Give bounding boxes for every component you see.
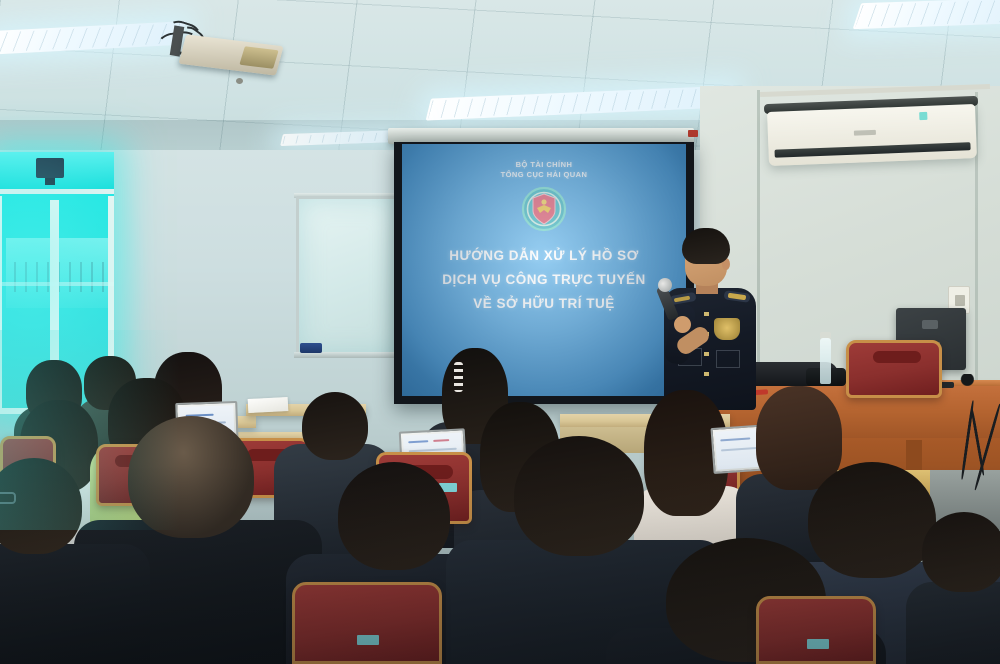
presenter-hair: [682, 228, 730, 264]
attendee-hair: [922, 512, 1000, 592]
attendee-hair: [338, 462, 450, 570]
screen-content-line: [720, 437, 750, 441]
chair: [756, 596, 876, 664]
attendee-torso: [0, 544, 150, 664]
slide-org-line-1: BỘ TÀI CHÍNH: [402, 160, 686, 170]
slide-title-line-2: DỊCH VỤ CÔNG TRỰC TUYẾN: [402, 268, 686, 292]
screen-content-line: [408, 440, 428, 443]
whiteboard-eraser: [300, 343, 322, 353]
hair-clip: [454, 362, 463, 392]
projector-lens: [239, 46, 278, 69]
screen-housing-marker: [688, 130, 698, 137]
attendee-torso: [906, 582, 1000, 664]
chair: [846, 340, 942, 398]
slide-title-line-1: HƯỚNG DẪN XỬ LÝ HỒ SƠ: [402, 244, 686, 268]
attendee-head: [128, 416, 254, 538]
eyeglasses: [0, 492, 16, 504]
paper-sheet: [248, 397, 289, 413]
ceiling-projector: [150, 26, 285, 78]
presenter: [658, 228, 770, 410]
ac-indicator-led: [919, 112, 927, 120]
slide-title: HƯỚNG DẪN XỬ LÝ HỒ SƠ DỊCH VỤ CÔNG TRỰC …: [402, 244, 686, 316]
presenter-sleeve-patch: [714, 318, 740, 340]
ac-vent: [774, 142, 970, 158]
chair: [292, 582, 442, 664]
presenter-hand: [674, 316, 691, 333]
chair-handle-slot: [873, 351, 921, 363]
monitor-badge: [922, 320, 938, 329]
attendee-hair: [808, 462, 936, 578]
slide-org-line-2: TỔNG CỤC HẢI QUAN: [402, 170, 686, 180]
wall-sign: [36, 158, 64, 178]
slide-title-line-3: VỀ SỞ HỮU TRÍ TUỆ: [402, 292, 686, 316]
screen-content-line: [433, 439, 449, 442]
attendee-hair: [756, 386, 842, 490]
chair-label-tag: [357, 635, 379, 645]
attendee-hair: [514, 436, 644, 556]
wall-air-conditioner: [767, 104, 977, 166]
projection-screen: BỘ TÀI CHÍNH TỔNG CỤC HẢI QUAN HƯỚNG DẪN…: [402, 144, 686, 396]
ceiling-fixture-dot: [236, 78, 243, 84]
presenter-uniform-buttons: [704, 312, 709, 392]
attendee-hair: [302, 392, 368, 460]
chair-label-tag: [807, 639, 829, 649]
ceiling-light-panel-right: [853, 0, 1000, 29]
slide-organization: BỘ TÀI CHÍNH TỔNG CỤC HẢI QUAN: [402, 160, 686, 180]
ac-logo: [854, 130, 876, 136]
whiteboard: [296, 196, 400, 358]
presenter-pocket-right: [716, 350, 740, 368]
floor-cables: [958, 400, 998, 510]
customs-emblem: [521, 186, 567, 232]
classroom-photo: BỘ TÀI CHÍNH TỔNG CỤC HẢI QUAN HƯỚNG DẪN…: [0, 0, 1000, 664]
door-rail: [0, 282, 114, 286]
